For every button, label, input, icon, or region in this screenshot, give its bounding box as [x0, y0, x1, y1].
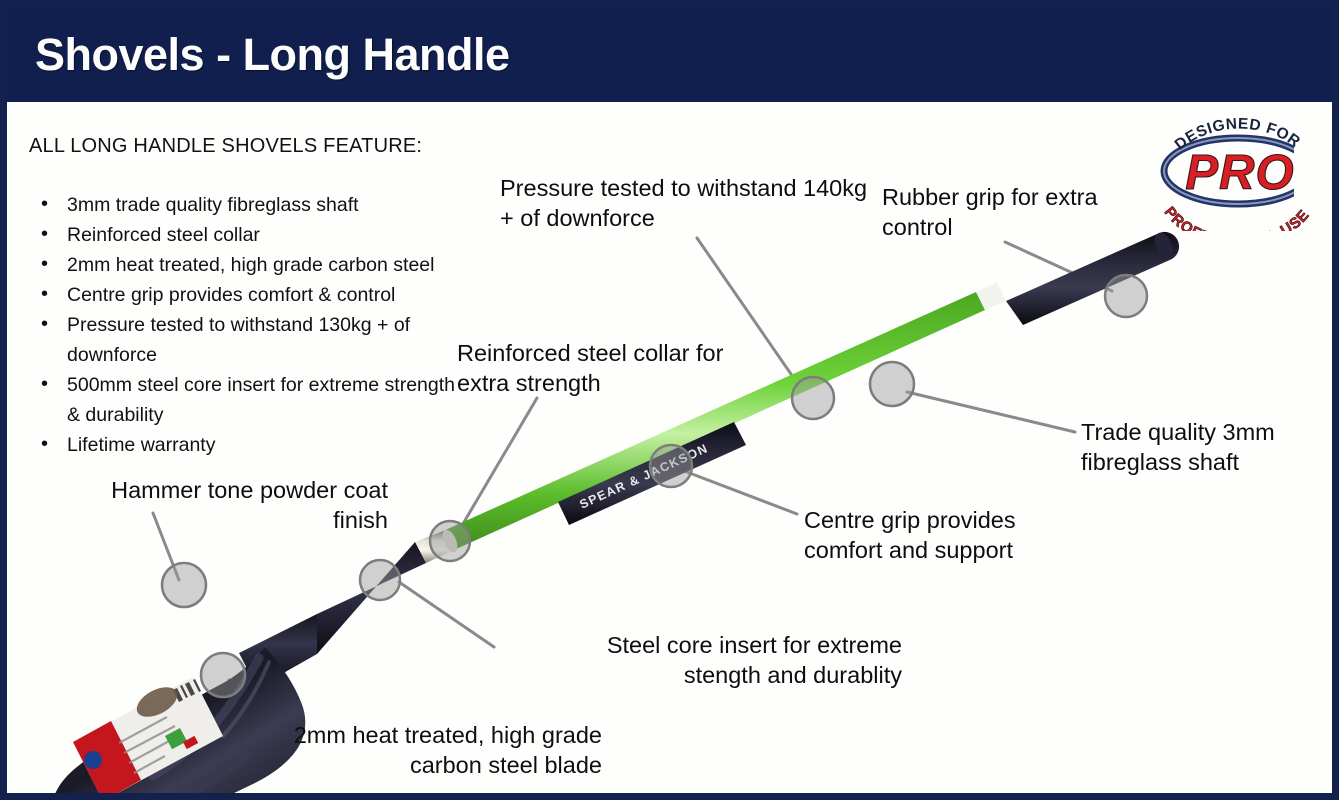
- marker-pressure: [792, 377, 834, 419]
- leader-line-centre-grip: [679, 469, 797, 514]
- page-title: Shovels - Long Handle: [35, 29, 510, 81]
- product-label: [73, 677, 223, 793]
- steel-collar: [415, 528, 460, 563]
- list-item: 2mm heat treated, high grade carbon stee…: [33, 250, 463, 280]
- features-list: 3mm trade quality fibreglass shaft Reinf…: [33, 190, 463, 460]
- header-bar: Shovels - Long Handle: [7, 7, 1332, 102]
- callout-steel-core: Steel core insert for extreme stength an…: [540, 630, 902, 690]
- leader-line-carbon-blade: [229, 680, 279, 717]
- callout-carbon-blade: 2mm heat treated, high grade carbon stee…: [235, 720, 602, 780]
- list-item: Pressure tested to withstand 130kg + of …: [33, 310, 463, 370]
- logo-ring-gap: [1294, 133, 1332, 209]
- marker-steel-core: [360, 560, 400, 600]
- list-item: Reinforced steel collar: [33, 220, 463, 250]
- rubber-top-grip: [1006, 230, 1179, 325]
- callout-trade-shaft: Trade quality 3mm fibreglass shaft: [1081, 417, 1331, 477]
- leader-line-steel-core: [399, 582, 494, 647]
- list-item: 500mm steel core insert for extreme stre…: [33, 370, 463, 430]
- brand-text: SPEAR & JACKSON: [577, 441, 710, 512]
- marker-carbon-blade: [201, 653, 245, 697]
- product-info-graphic: Shovels - Long Handle ALL LONG HANDLE SH…: [0, 0, 1339, 800]
- marker-steel-collar: [430, 521, 470, 561]
- marker-trade-shaft: [870, 362, 914, 406]
- logo-pro-wordmark: PRO: [1185, 146, 1294, 200]
- callout-centre-grip: Centre grip provides comfort and support: [804, 505, 1034, 565]
- shaft-grip-transition-band: [976, 282, 1006, 310]
- callout-pressure-tested: Pressure tested to withstand 140kg + of …: [500, 173, 870, 233]
- logo-bottom-arc-text: PROFESSIONAL USE: [1161, 204, 1313, 231]
- designed-for-pro-logo: DESIGNED FOR PRO PROFESSIONAL USE: [1144, 109, 1332, 231]
- callout-hammer-tone: Hammer tone powder coat finish: [55, 475, 388, 535]
- blade-socket: [239, 542, 426, 688]
- callout-rubber-grip: Rubber grip for extra control: [882, 182, 1150, 242]
- features-heading: ALL LONG HANDLE SHOVELS FEATURE:: [29, 135, 422, 158]
- list-item: Lifetime warranty: [33, 430, 463, 460]
- centre-grip: SPEAR & JACKSON: [558, 422, 746, 525]
- content-panel: ALL LONG HANDLE SHOVELS FEATURE: 3mm tra…: [7, 102, 1332, 793]
- leader-line-rubber-grip: [1005, 242, 1112, 291]
- leader-line-trade-shaft: [907, 392, 1075, 432]
- marker-hammer-tone: [162, 563, 206, 607]
- leader-line-steel-collar: [457, 398, 537, 534]
- list-item: Centre grip provides comfort & control: [33, 280, 463, 310]
- callout-steel-collar: Reinforced steel collar for extra streng…: [457, 338, 747, 398]
- marker-centre-grip: [650, 445, 692, 487]
- list-item: 3mm trade quality fibreglass shaft: [33, 190, 463, 220]
- marker-rubber-grip: [1105, 275, 1147, 317]
